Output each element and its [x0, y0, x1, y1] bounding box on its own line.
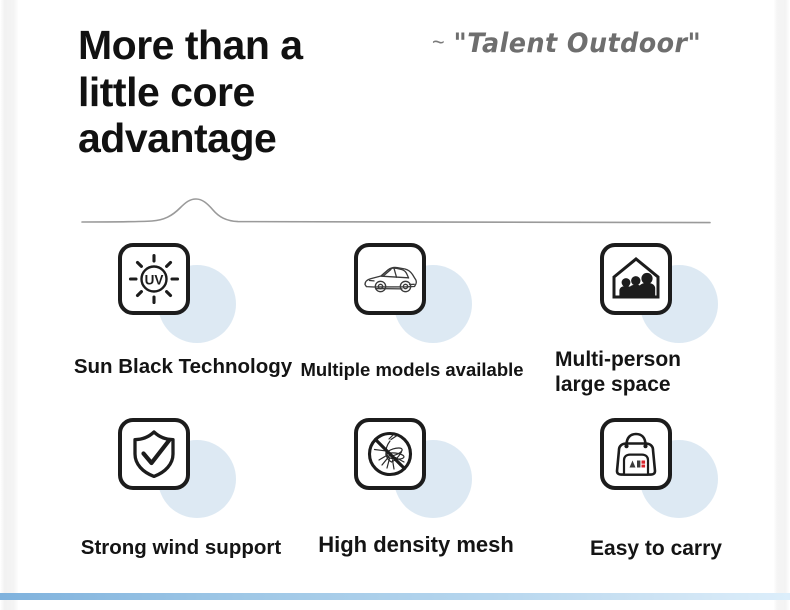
feature-item-multiple-models-available[interactable]: Multiple models available	[354, 243, 466, 329]
feature-label: Sun Black Technology	[53, 355, 313, 380]
icon-wrap: UV	[118, 243, 230, 329]
feature-item-multi-person-large-space[interactable]: Multi-person large space	[600, 243, 712, 329]
uv-sun-icon: UV	[118, 243, 190, 315]
icon-wrap	[118, 418, 230, 504]
icon-wrap	[354, 243, 466, 329]
wave-divider	[80, 196, 712, 232]
feature-item-high-density-mesh[interactable]: High density mesh	[354, 418, 466, 504]
headline-line-1: More than a	[78, 22, 408, 69]
feature-label: Multi-person large space	[555, 347, 755, 397]
icon-wrap	[600, 243, 712, 329]
feature-grid: UV	[0, 243, 790, 593]
bottom-accent-bar	[0, 593, 790, 600]
feature-label: Easy to carry	[556, 536, 756, 561]
feature-item-sun-black-technology[interactable]: UV	[118, 243, 230, 329]
feature-row-2: Strong wind support	[0, 418, 790, 593]
feature-label: Strong wind support	[56, 536, 306, 561]
wave-divider-icon	[80, 196, 712, 232]
page-title: More than a little core advantage	[78, 22, 408, 162]
headline-line-3: advantage	[78, 115, 408, 162]
feature-row-1: UV	[0, 243, 790, 418]
feature-label: Multiple models available	[292, 359, 532, 381]
no-mosquito-icon	[354, 418, 426, 490]
feature-item-easy-to-carry[interactable]: Easy to carry	[600, 418, 712, 504]
tilde-mark: ~	[432, 29, 445, 55]
headline-line-2: little core	[78, 69, 408, 116]
icon-wrap	[600, 418, 712, 504]
car-icon	[354, 243, 426, 315]
icon-wrap	[354, 418, 466, 504]
feature-item-strong-wind-support[interactable]: Strong wind support	[118, 418, 230, 504]
svg-text:UV: UV	[145, 273, 164, 288]
tent-people-icon	[600, 243, 672, 315]
carry-bag-icon	[600, 418, 672, 490]
brand-tagline: ~"Talent Outdoor"	[432, 28, 701, 59]
feature-label: High density mesh	[296, 532, 536, 558]
promo-banner: More than a little core advantage ~"Tale…	[0, 0, 790, 610]
brand-name: "Talent Outdoor"	[454, 28, 702, 59]
shield-check-icon	[118, 418, 190, 490]
